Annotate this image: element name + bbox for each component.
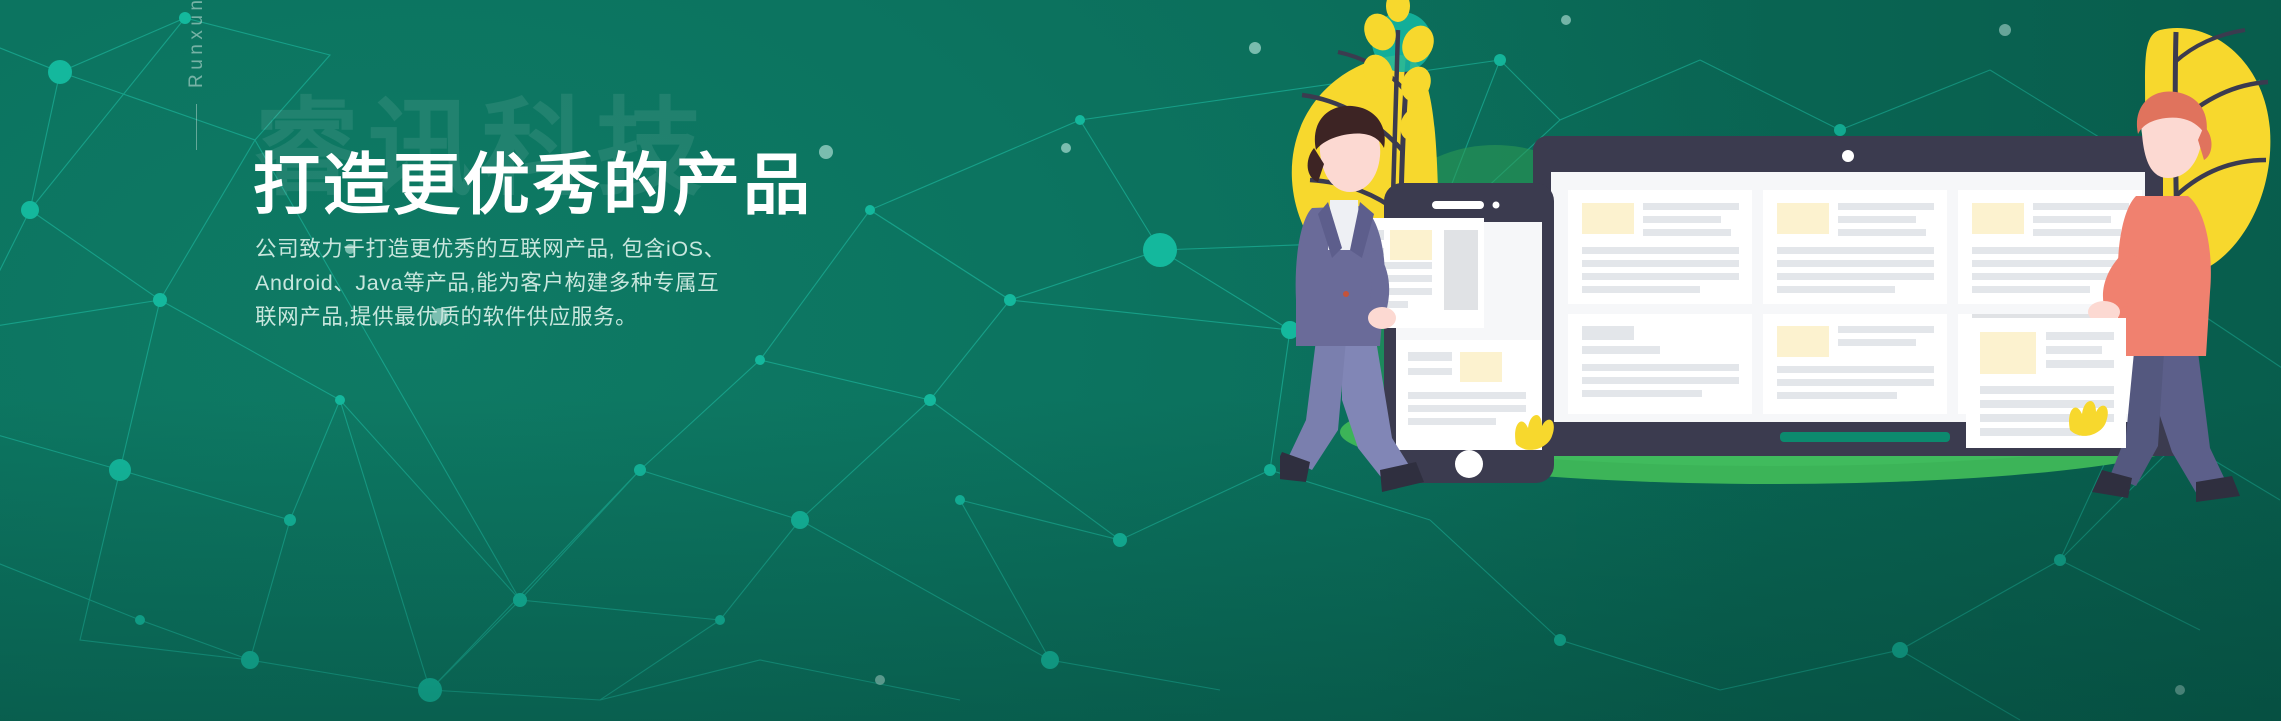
- description-line-1: 公司致力于打造更优秀的互联网产品, 包含iOS、: [255, 232, 800, 266]
- floating-document-right: [1966, 318, 2126, 448]
- tagline-rule: [196, 104, 197, 150]
- hero-banner: Runxun Techlology 睿讯科技 打造更优秀的产品 公司致力于打造更…: [0, 0, 2281, 721]
- page-title: 打造更优秀的产品: [253, 144, 813, 228]
- tagline-text: Runxun Techlology: [186, 0, 207, 88]
- hero-illustration: [1280, 0, 2281, 721]
- description-line-3: 联网产品,提供最优质的软件供应服务。: [255, 300, 800, 334]
- description-line-2: Android、Java等产品,能为客户构建多种专属互: [255, 266, 800, 300]
- description-block: 公司致力于打造更优秀的互联网产品, 包含iOS、 Android、Java等产品…: [255, 232, 800, 334]
- vertical-tagline: Runxun Techlology: [186, 0, 208, 150]
